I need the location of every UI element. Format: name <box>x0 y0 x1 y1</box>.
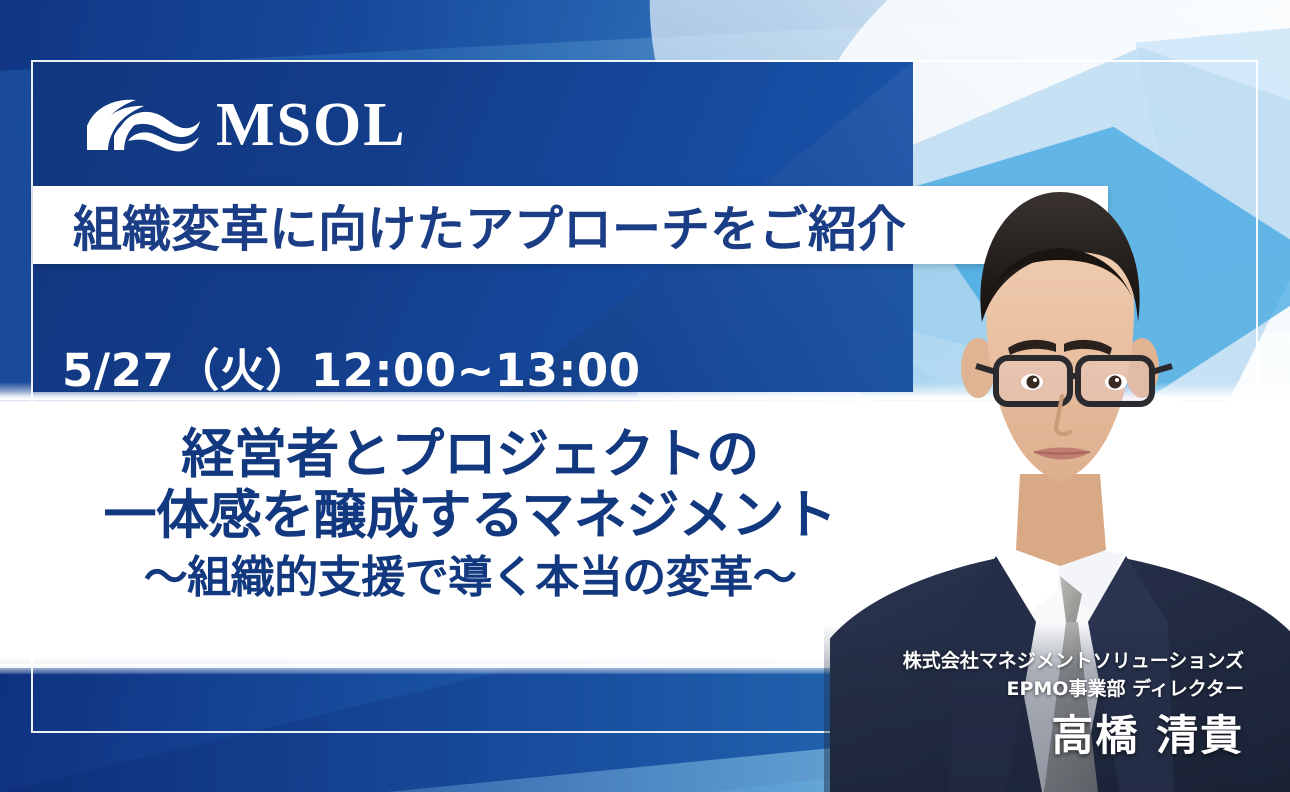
seminar-title: 経営者とプロジェクトの 一体感を醸成するマネジメント ～組織的支援で導く本当の変… <box>0 424 940 606</box>
speaker-company: 株式会社マネジメントソリューションズ <box>824 648 1244 676</box>
speaker-name: 高橋 清貴 <box>824 710 1244 763</box>
speaker-role: EPMO事業部 ディレクター <box>824 676 1244 704</box>
brand-wordmark: MSOL <box>216 94 407 156</box>
seminar-title-line-2: 一体感を醸成するマネジメント <box>0 485 940 546</box>
headline-text: 組織変革に向けたアプローチをご紹介 <box>73 190 906 261</box>
webinar-banner: MSOL 組織変革に向けたアプローチをご紹介 5/27（火）12:00~13:0… <box>0 0 1290 792</box>
brand-logo: MSOL <box>84 92 407 158</box>
seminar-title-line-1: 経営者とプロジェクトの <box>0 424 940 485</box>
seminar-title-subtitle: ～組織的支援で導く本当の変革～ <box>0 549 940 606</box>
msol-wave-mark-icon <box>84 92 202 158</box>
speaker-credentials: 株式会社マネジメントソリューションズ EPMO事業部 ディレクター 高橋 清貴 <box>824 624 1290 792</box>
event-datetime: 5/27（火）12:00~13:00 <box>62 334 641 399</box>
